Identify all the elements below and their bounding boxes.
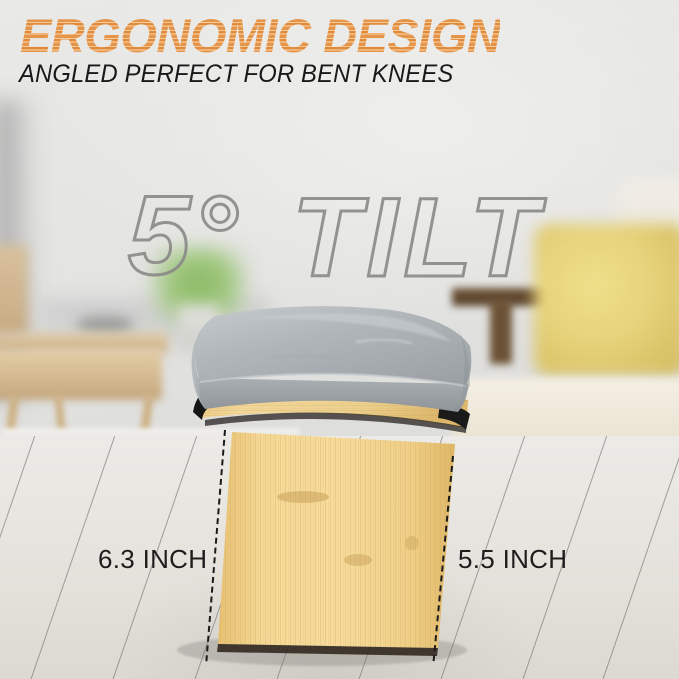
bamboo-footrest-stool: [0, 0, 679, 679]
tilt-word-watermark: TILT: [292, 173, 544, 302]
tilt-angle-watermark: 5°: [128, 171, 239, 300]
product-feature-image: ERGONOMIC DESIGN ANGLED PERFECT FOR BENT…: [0, 0, 679, 679]
dimension-label-right: 5.5 INCH: [458, 544, 567, 575]
engraving-mark: [344, 554, 372, 566]
degree-symbol-icon: °: [192, 173, 239, 298]
engraving-mark: [277, 491, 329, 503]
page-subtitle: ANGLED PERFECT FOR BENT KNEES: [19, 60, 453, 89]
page-title: ERGONOMIC DESIGN: [20, 12, 500, 59]
engraving-mark: [405, 536, 419, 550]
dimension-label-left: 6.3 INCH: [98, 544, 207, 575]
tilt-angle-value: 5: [128, 173, 192, 298]
stool-base-grain: [218, 432, 455, 648]
